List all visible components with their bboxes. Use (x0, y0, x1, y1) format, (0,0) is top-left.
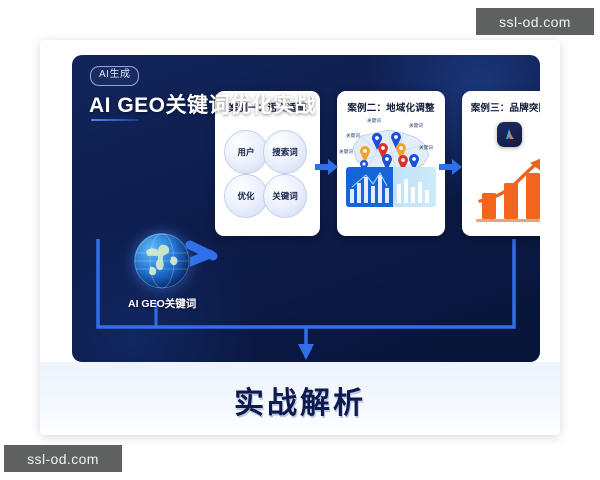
case-2-heading: 案例二：地域化调整 (337, 91, 445, 116)
case-3-growth-chart (462, 149, 540, 233)
case-3-heading: 案例三：品牌突围 (462, 91, 540, 116)
case-1-diagram: 用户 搜索词 优化 关键词 (215, 116, 320, 224)
case-card-2[interactable]: 案例二：地域化调整 (337, 91, 445, 236)
page-title: AI GEO关键词优化实战 (89, 89, 316, 119)
title-underline (91, 119, 139, 121)
bubble-user: 用户 (224, 130, 268, 174)
arrow-case1-to-case2-icon (315, 157, 339, 177)
ai-generated-badge: AI生成 (90, 66, 139, 86)
watermark-bottom-left: ssl-od.com (4, 445, 122, 472)
map-label-keyword: 关键词 (409, 123, 423, 129)
source-node-label: AI GEO关键词 (128, 296, 196, 311)
bubble-keyword: 关键词 (263, 174, 307, 218)
navy-panel: AI生成 AI GEO关键词优化实战 (72, 55, 540, 362)
case-card-3[interactable]: 案例三：品牌突围 (462, 91, 540, 236)
case-2-bar-chart (346, 167, 436, 207)
map-label-keyword: 关键词 (339, 149, 353, 155)
bubble-optimize: 优化 (224, 174, 268, 218)
watermark-top-right: ssl-od.com (476, 8, 594, 35)
arrow-case2-to-case3-icon (439, 157, 463, 177)
app-icon (497, 122, 522, 147)
slide-card: AI生成 AI GEO关键词优化实战 (40, 40, 560, 435)
bottom-headline: 实战解析 (40, 378, 560, 422)
map-label-keyword: 关键词 (367, 118, 381, 124)
globe-icon (134, 233, 190, 289)
map-label-keyword: 关键词 (419, 145, 433, 151)
bubble-search: 搜索词 (263, 130, 307, 174)
map-label-keyword: 关键词 (346, 133, 360, 139)
source-node: AI GEO关键词 (128, 233, 196, 311)
